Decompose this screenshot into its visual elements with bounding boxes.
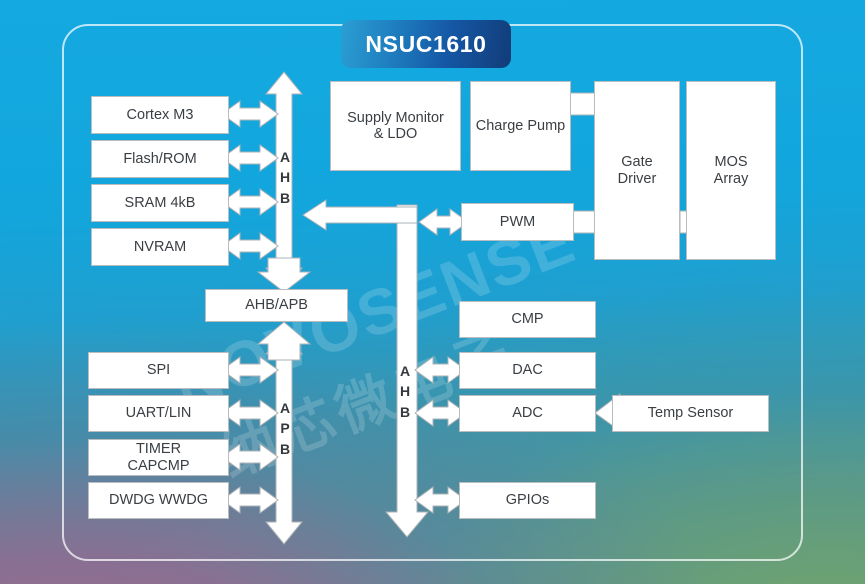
block-spi[interactable]: SPI (88, 352, 229, 389)
block-sram-4kb[interactable]: SRAM 4kB (91, 184, 229, 222)
block-cortex-m3[interactable]: Cortex M3 (91, 96, 229, 134)
page-title: NSUC1610 (341, 20, 511, 68)
block-cmp[interactable]: CMP (459, 301, 596, 338)
block-temp-sensor[interactable]: Temp Sensor (612, 395, 769, 432)
block-gate-driver[interactable]: Gate Driver (594, 81, 680, 260)
block-dac[interactable]: DAC (459, 352, 596, 389)
block-ahb-apb-bridge[interactable]: AHB/APB (205, 289, 348, 322)
block-gpios[interactable]: GPIOs (459, 482, 596, 519)
block-nvram[interactable]: NVRAM (91, 228, 229, 266)
block-adc[interactable]: ADC (459, 395, 596, 432)
block-uart-lin[interactable]: UART/LIN (88, 395, 229, 432)
block-timer-capcmp[interactable]: TIMER CAPCMP (88, 439, 229, 476)
block-supply-monitor-ldo[interactable]: Supply Monitor & LDO (330, 81, 461, 171)
block-pwm[interactable]: PWM (461, 203, 574, 241)
block-mos-array[interactable]: MOS Array (686, 81, 776, 260)
block-charge-pump[interactable]: Charge Pump (470, 81, 571, 171)
block-flash-rom[interactable]: Flash/ROM (91, 140, 229, 178)
block-dwdg-wwdg[interactable]: DWDG WWDG (88, 482, 229, 519)
